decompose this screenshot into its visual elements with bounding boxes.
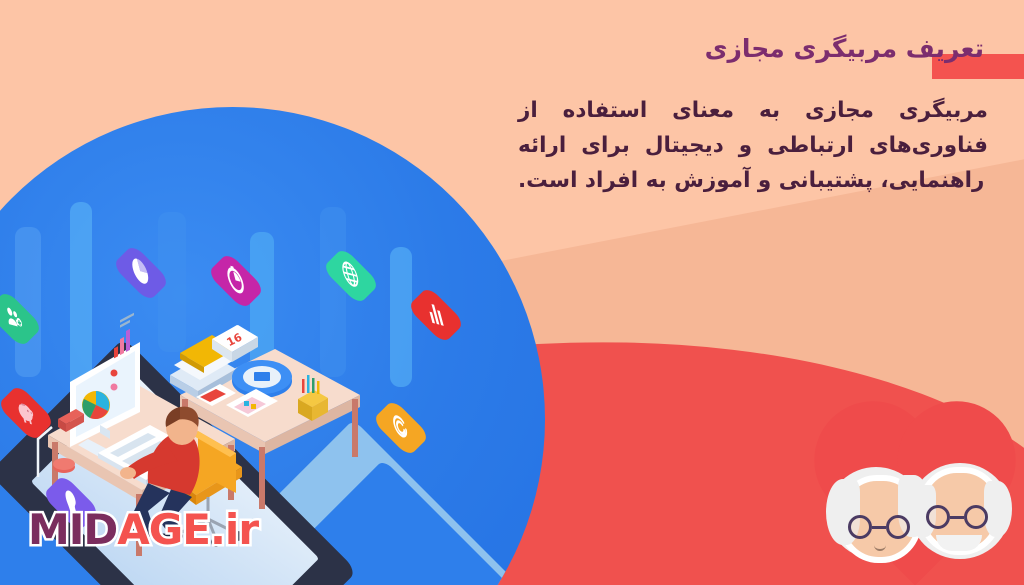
users-group-icon[interactable] [0,293,40,345]
elderly-couple-heart-logo [818,431,1018,581]
grandmother-glasses [848,515,910,539]
site-logo[interactable]: MIDAGE.ir [28,505,258,554]
grandfather-glasses [926,505,988,529]
logo-text-age: AGE.ir [117,505,258,554]
timer-icon-face [207,252,265,310]
bar-chart-icon-face [407,286,465,344]
text-column: تعریف مربیگری مجازی مربیگری مجازی به معن… [518,34,988,198]
pie-chart-icon-face [112,244,170,302]
computer-mouse [53,458,75,473]
piggy-bank-icon[interactable] [0,387,52,439]
users-group-icon-glyph [1,300,27,339]
globe-network-icon[interactable] [325,250,377,302]
page-title: تعریف مربیگری مجازی [518,34,988,64]
swirl-token-icon-face [372,399,430,457]
piggy-bank-icon-face [0,384,55,442]
logo-text-mid: MID [28,505,117,554]
bar-chart-icon-glyph [423,296,449,335]
bar-chart-icon[interactable] [410,289,462,341]
pie-chart-icon[interactable] [115,247,167,299]
globe-network-icon-face [322,247,380,305]
piggy-bank-icon-glyph [12,392,41,434]
globe-network-icon-glyph [338,257,364,296]
pie-chart-icon-glyph [128,254,154,293]
body-paragraph: مربیگری مجازی به معنای استفاده از فناوری… [518,94,988,198]
timer-icon[interactable] [210,255,262,307]
swirl-token-icon-glyph [387,407,416,449]
poster-canvas: 16 [0,0,1024,585]
swirl-token-icon[interactable] [375,402,427,454]
timer-icon-glyph [223,262,249,301]
users-group-icon-face [0,290,43,348]
